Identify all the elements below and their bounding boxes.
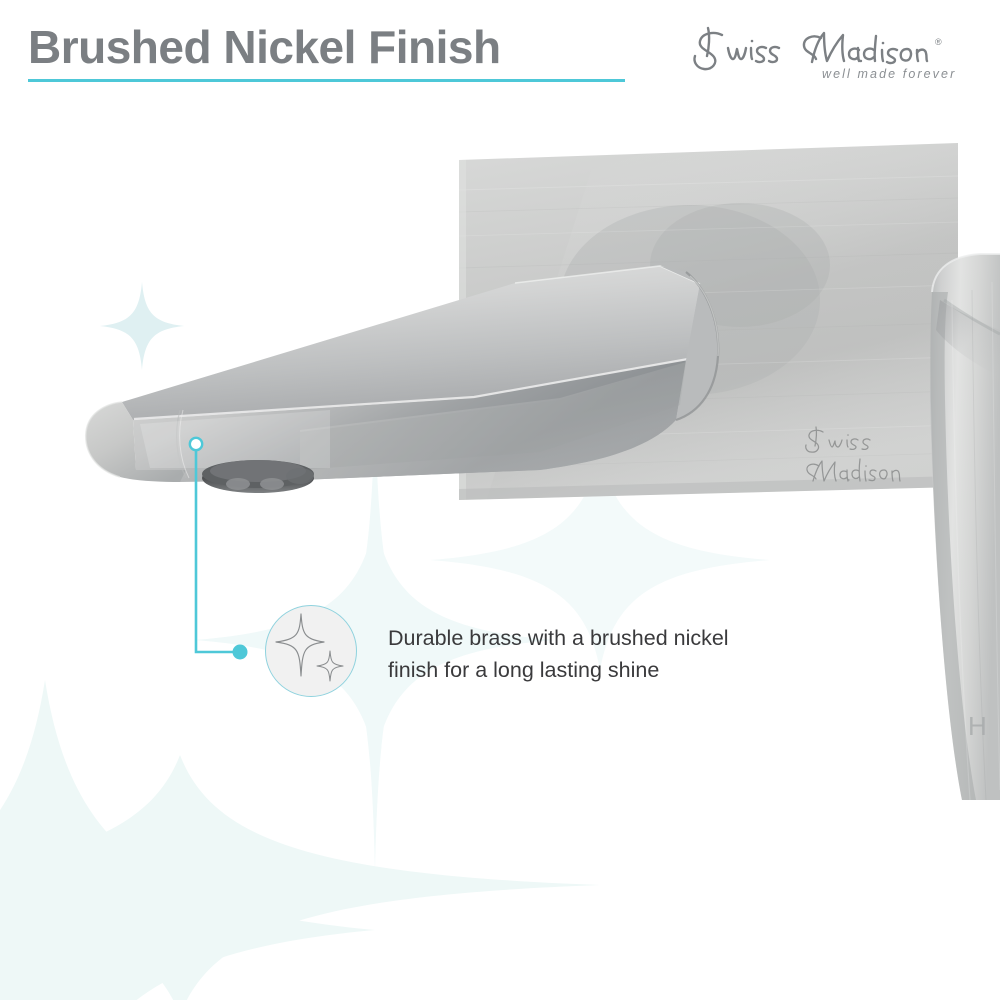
leader-end-dot [233,645,248,660]
spout-aerator [202,460,314,493]
handle-hot-marking: H [968,711,987,741]
sparkle-decoration-top-left [96,276,188,381]
brand-tagline: well made forever [822,67,956,81]
callout-icon-badge [265,605,357,697]
sparkle-icon [96,276,188,376]
faucet-handle: H [930,254,1000,800]
callout-text-line-1: Durable brass with a brushed nickel [388,622,808,654]
background-watermark-layer [0,0,1000,1000]
callout-text-line-2: finish for a long lasting shine [388,654,808,686]
faucet-illustration: H [0,0,1000,1000]
callout-leader-line [0,0,1000,1000]
product-feature-image: Brushed Nickel Finish [0,0,1000,1000]
watermark-sparkles [0,0,1000,1000]
leader-anchor-marker [190,438,202,450]
brand-logo: ® well made forever [688,26,978,88]
page-title: Brushed Nickel Finish [28,18,501,76]
plate-engraving-logo [806,427,900,481]
product-photo: H [0,0,1000,1000]
title-underline-accent [28,79,625,82]
callout-description: Durable brass with a brushed nickel fini… [388,622,808,686]
sparkle-shine-icon [266,606,355,695]
registered-mark: ® [935,37,942,47]
swiss-madison-logo: ® well made forever [688,26,978,88]
header: Brushed Nickel Finish [0,0,1000,110]
leader-path [0,0,1000,1000]
wall-plate [459,143,980,520]
